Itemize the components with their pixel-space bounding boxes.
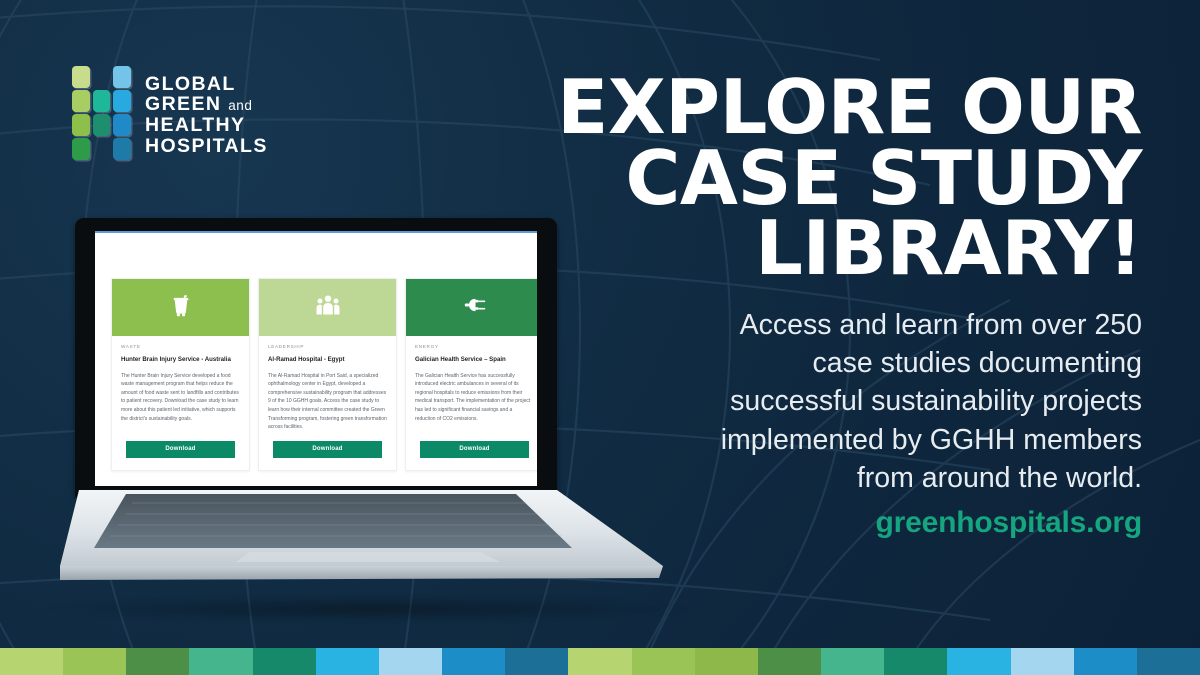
swatch-2 [63,648,126,675]
card-body: WASTEHunter Brain Injury Service - Austr… [112,336,249,432]
card-category-label: ENERGY [415,344,534,349]
laptop-shadow [48,596,688,622]
swatch-7 [379,648,442,675]
logo-line-hospitals: HOSPITALS [145,136,268,157]
swatch-8 [442,648,505,675]
logo-wordmark: GLOBAL GREEN and HEALTHY HOSPITALS [145,74,268,157]
waste-bin-icon [168,292,194,323]
swatch-19 [1137,648,1200,675]
logo-tile-r2-c2 [93,90,111,112]
swatch-10 [568,648,631,675]
card-category-label: LEADERSHIP [268,344,387,349]
download-button[interactable]: Download [420,441,529,458]
logo-line-global: GLOBAL [145,74,268,95]
card-title: Galician Health Service – Spain [415,356,534,364]
gghh-logo: GLOBAL GREEN and HEALTHY HOSPITALS [72,66,268,164]
logo-tile-r3-c3 [113,114,131,136]
card-category-label: WASTE [121,344,240,349]
swatch-11 [632,648,695,675]
logo-tile-grid [72,66,132,164]
logo-tile-r2-c3 [113,90,131,112]
logo-line-green: GREEN and [145,94,268,115]
swatch-4 [189,648,252,675]
card-footer: Download [406,432,537,470]
card-header-image [259,279,396,336]
download-button[interactable]: Download [126,441,235,458]
swatch-13 [758,648,821,675]
swatch-14 [821,648,884,675]
download-button[interactable]: Download [273,441,382,458]
logo-tile-r2-c1 [72,90,90,112]
swatch-9 [505,648,568,675]
logo-tile-r4-c3 [113,138,131,160]
logo-tile-r4-c1 [72,138,90,160]
logo-tile-r3-c2 [93,114,111,136]
swatch-16 [947,648,1010,675]
logo-tile-r1-c3 [113,66,131,88]
color-swatch-strip [0,648,1200,675]
card-description: The Hunter Brain Injury Service develope… [121,372,240,424]
card-body: LEADERSHIPAl-Ramad Hospital - EgyptThe A… [259,336,396,432]
logo-tile-r1-c1 [72,66,90,88]
swatch-6 [316,648,379,675]
card-description: The Galician Health Service has successf… [415,372,534,424]
card-description: The Al-Ramad Hospital in Port Said, a sp… [268,372,387,432]
swatch-12 [695,648,758,675]
swatch-3 [126,648,189,675]
swatch-17 [1011,648,1074,675]
card-header-image [406,279,537,336]
card-title: Hunter Brain Injury Service - Australia [121,356,240,364]
case-study-card[interactable]: LEADERSHIPAl-Ramad Hospital - EgyptThe A… [258,278,397,471]
card-body: ENERGYGalician Health Service – SpainThe… [406,336,537,432]
headline-line-1: EXPLORE OUR [522,72,1142,143]
promotional-graphic: GLOBAL GREEN and HEALTHY HOSPITALS EXPLO… [0,0,1200,675]
logo-tile-r3-c1 [72,114,90,136]
card-header-image [112,279,249,336]
card-title: Al-Ramad Hospital - Egypt [268,356,387,364]
case-study-card[interactable]: WASTEHunter Brain Injury Service - Austr… [111,278,250,471]
people-group-icon [315,292,341,323]
case-study-card[interactable]: ENERGYGalician Health Service – SpainThe… [405,278,537,471]
laptop-lid: WASTEHunter Brain Injury Service - Austr… [75,218,557,498]
laptop-base [60,490,680,602]
swatch-5 [253,648,316,675]
headline-line-2: CASE STUDY [522,143,1142,214]
laptop-screen: WASTEHunter Brain Injury Service - Austr… [95,231,537,486]
swatch-15 [884,648,947,675]
laptop-mockup: WASTEHunter Brain Injury Service - Austr… [60,218,680,618]
swatch-18 [1074,648,1137,675]
card-footer: Download [112,432,249,470]
case-study-card-list: WASTEHunter Brain Injury Service - Austr… [111,278,537,471]
swatch-1 [0,648,63,675]
logo-line-healthy: HEALTHY [145,115,268,136]
power-plug-icon [462,292,488,323]
card-footer: Download [259,432,396,470]
